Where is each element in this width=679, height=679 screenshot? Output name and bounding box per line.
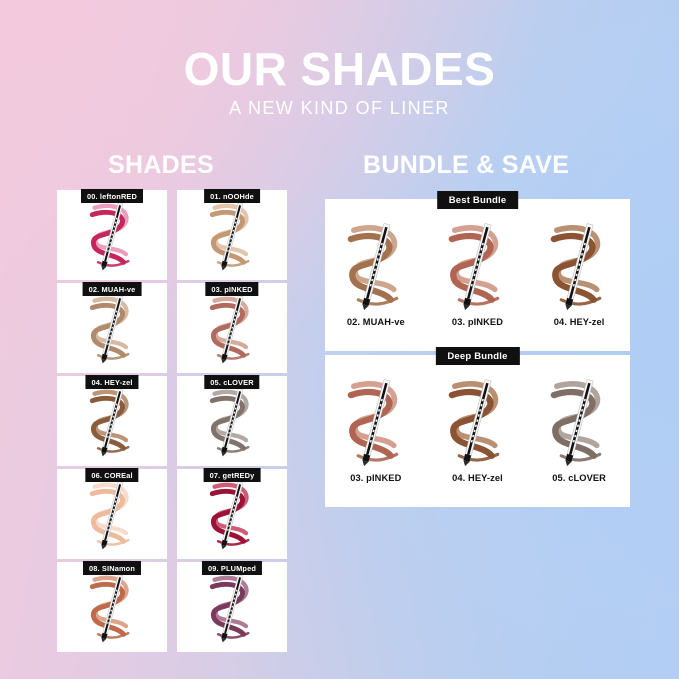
bundle-item[interactable]: 02. MUAH-ve: [331, 213, 421, 327]
shade-card[interactable]: 02. MUAH-ve: [57, 283, 167, 373]
bundle-item-label: 02. MUAH-ve: [347, 317, 405, 327]
shade-label-pill: 01. nOOHde: [204, 189, 260, 203]
bundle-swatch: [339, 369, 413, 472]
bundle-swatch: [440, 213, 514, 316]
shade-label-pill: 06. COREal: [85, 468, 138, 482]
bundle-swatch: [542, 213, 616, 316]
shade-card[interactable]: 04. HEY-zel: [57, 376, 167, 466]
swatch-stroke-icon: [339, 215, 413, 315]
shade-swatch: [177, 283, 287, 373]
bundle-swatch: [542, 369, 616, 472]
bundle-panel-deep[interactable]: Deep Bundle03. pINKED04. HEY-zel05. cLOV…: [325, 355, 630, 507]
shade-swatch: [177, 562, 287, 652]
shade-label-pill: 00. leftonRED: [81, 189, 143, 203]
bundle-item[interactable]: 04. HEY-zel: [534, 213, 624, 327]
shade-card[interactable]: 09. PLUMped: [177, 562, 287, 652]
shade-card[interactable]: 01. nOOHde: [177, 190, 287, 280]
bundle-item-row: 02. MUAH-ve03. pINKED04. HEY-zel: [325, 213, 630, 345]
shade-label-pill: 04. HEY-zel: [85, 375, 138, 389]
swatch-stroke-icon: [83, 197, 141, 273]
page-title: OUR SHADES: [0, 46, 679, 92]
shade-swatch: [57, 190, 167, 280]
bundle-item-label: 03. pINKED: [452, 317, 503, 327]
shade-swatch: [177, 376, 287, 466]
swatch-stroke-icon: [203, 569, 261, 645]
shade-label-pill: 08. SINamon: [83, 561, 141, 575]
shade-card[interactable]: 03. pINKED: [177, 283, 287, 373]
swatch-stroke-icon: [203, 197, 261, 273]
bundle-item[interactable]: 03. pINKED: [331, 369, 421, 483]
page-subtitle: A NEW KIND OF LINER: [0, 98, 679, 118]
bundle-item-label: 04. HEY-zel: [554, 317, 605, 327]
bundle-item[interactable]: 03. pINKED: [432, 213, 522, 327]
swatch-stroke-icon: [339, 371, 413, 471]
shade-card[interactable]: 08. SINamon: [57, 562, 167, 652]
shade-swatch: [57, 562, 167, 652]
swatch-stroke-icon: [542, 215, 616, 315]
shades-grid: 00. leftonRED01. nOOHde02. MUAH-ve03. pI…: [57, 190, 289, 652]
swatch-stroke-icon: [83, 476, 141, 552]
section-heading-shades: SHADES: [108, 153, 214, 178]
shade-swatch: [57, 469, 167, 559]
bundle-swatch: [440, 369, 514, 472]
bundle-item-label: 04. HEY-zel: [452, 473, 503, 483]
bundle-tag: Deep Bundle: [435, 347, 519, 365]
shade-label-pill: 07. getREDy: [204, 468, 261, 482]
shade-swatch: [177, 190, 287, 280]
bundle-item-row: 03. pINKED04. HEY-zel05. cLOVER: [325, 369, 630, 501]
shade-swatch: [177, 469, 287, 559]
swatch-stroke-icon: [203, 383, 261, 459]
shade-label-pill: 09. PLUMped: [202, 561, 262, 575]
section-heading-bundle: BUNDLE & SAVE: [363, 153, 569, 178]
bundle-item[interactable]: 04. HEY-zel: [432, 369, 522, 483]
bundle-panel-best[interactable]: Best Bundle02. MUAH-ve03. pINKED04. HEY-…: [325, 199, 630, 351]
swatch-stroke-icon: [203, 290, 261, 366]
swatch-stroke-icon: [203, 476, 261, 552]
swatch-stroke-icon: [440, 215, 514, 315]
shade-label-pill: 03. pINKED: [205, 282, 258, 296]
swatch-stroke-icon: [83, 569, 141, 645]
bundle-item-label: 05. cLOVER: [552, 473, 606, 483]
bundle-item-label: 03. pINKED: [350, 473, 401, 483]
poster-header: OUR SHADES A NEW KIND OF LINER: [0, 46, 679, 118]
shade-card[interactable]: 07. getREDy: [177, 469, 287, 559]
swatch-stroke-icon: [440, 371, 514, 471]
shade-label-pill: 02. MUAH-ve: [83, 282, 142, 296]
shade-card[interactable]: 06. COREal: [57, 469, 167, 559]
swatch-stroke-icon: [542, 371, 616, 471]
shade-label-pill: 05. cLOVER: [204, 375, 259, 389]
bundle-tag: Best Bundle: [437, 191, 519, 209]
shade-card[interactable]: 05. cLOVER: [177, 376, 287, 466]
bundle-item[interactable]: 05. cLOVER: [534, 369, 624, 483]
shade-swatch: [57, 283, 167, 373]
shade-card[interactable]: 00. leftonRED: [57, 190, 167, 280]
shade-swatch: [57, 376, 167, 466]
bundle-swatch: [339, 213, 413, 316]
swatch-stroke-icon: [83, 383, 141, 459]
swatch-stroke-icon: [83, 290, 141, 366]
poster-canvas: OUR SHADES A NEW KIND OF LINER SHADES BU…: [0, 0, 679, 679]
